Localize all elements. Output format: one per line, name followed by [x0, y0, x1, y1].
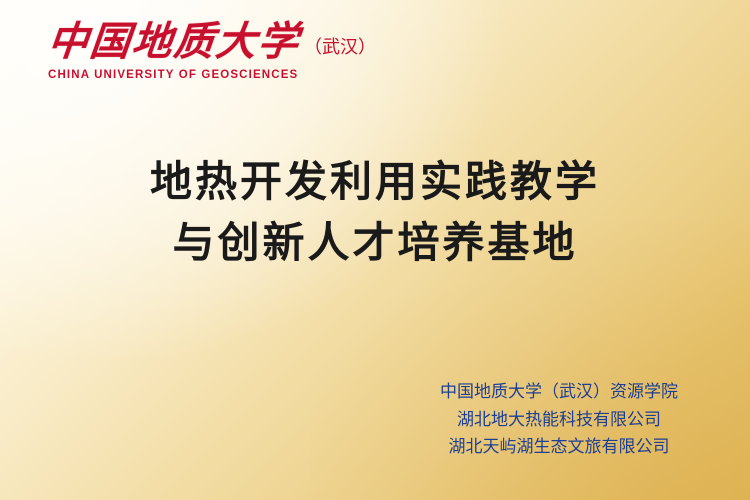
title-line-1: 地热开发利用实践教学	[0, 152, 750, 213]
page-title: 地热开发利用实践教学 与创新人才培养基地	[0, 152, 750, 274]
affiliation-line-2: 湖北地大热能科技有限公司	[440, 407, 678, 435]
affiliation-line-3: 湖北天屿湖生态文旅有限公司	[440, 434, 678, 462]
presentation-title-slide: 中国地质大学 （武汉） CHINA UNIVERSITY OF GEOSCIEN…	[0, 0, 750, 500]
university-logo: 中国地质大学 （武汉） CHINA UNIVERSITY OF GEOSCIEN…	[48, 22, 376, 81]
title-line-2: 与创新人才培养基地	[0, 213, 750, 274]
affiliation-list: 中国地质大学（武汉）资源学院 湖北地大热能科技有限公司 湖北天屿湖生态文旅有限公…	[440, 379, 678, 462]
logo-chinese-row: 中国地质大学 （武汉）	[48, 22, 376, 62]
affiliation-line-1: 中国地质大学（武汉）资源学院	[440, 379, 678, 407]
logo-english-name: CHINA UNIVERSITY OF GEOSCIENCES	[48, 69, 376, 81]
logo-chinese-name: 中国地质大学	[46, 22, 302, 62]
logo-campus-label: （武汉）	[304, 39, 376, 62]
